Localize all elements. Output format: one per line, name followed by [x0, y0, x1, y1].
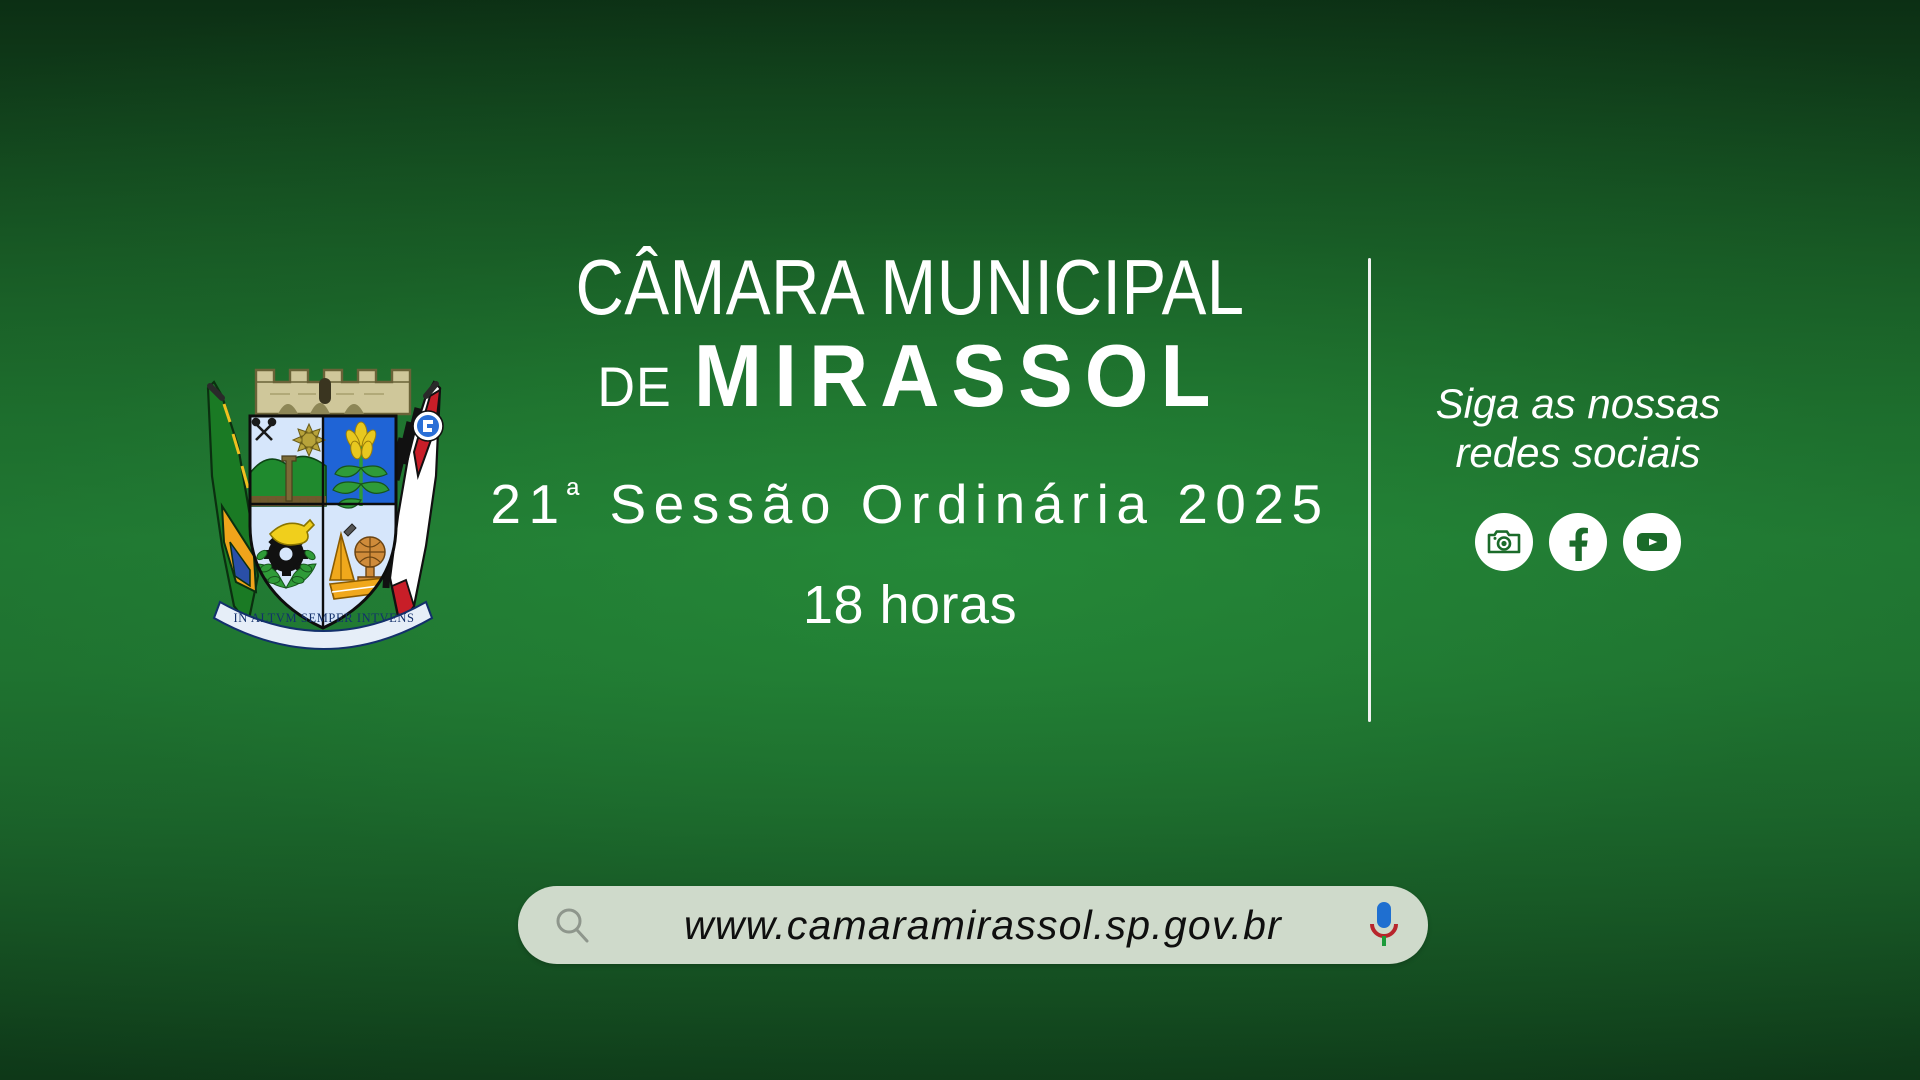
- motto-text: IN ALTVM SEMPER INTVENS: [233, 611, 414, 625]
- session-label: 21ª Sessão Ordinária 2025: [470, 472, 1350, 536]
- search-bar[interactable]: www.camaramirassol.sp.gov.br: [518, 886, 1428, 964]
- coat-of-arms-mirassol: IN ALTVM SEMPER INTVENS: [178, 356, 468, 676]
- sun-icon: [293, 424, 325, 456]
- session-text: Sessão Ordinária 2025: [587, 473, 1330, 535]
- page-title: CÂMARA MUNICIPAL: [532, 250, 1289, 324]
- session-ordinal: ª: [567, 476, 587, 514]
- session-number: 21: [490, 473, 566, 535]
- social-heading: Siga as nossas redes sociais: [1418, 380, 1738, 477]
- instagram-icon[interactable]: [1475, 513, 1533, 571]
- session-time: 18 horas: [470, 574, 1350, 636]
- center-text-block: CÂMARA MUNICIPAL DEMIRASSOL 21ª Sessão O…: [470, 250, 1350, 636]
- title-prefix: DE: [597, 355, 671, 418]
- microphone-icon[interactable]: [1366, 899, 1402, 951]
- youtube-icon[interactable]: [1623, 513, 1681, 571]
- social-heading-line2: redes sociais: [1418, 429, 1738, 478]
- shield: [248, 414, 399, 634]
- page-subtitle: DEMIRASSOL: [501, 332, 1319, 420]
- url-input[interactable]: www.camaramirassol.sp.gov.br: [594, 902, 1366, 949]
- facebook-icon[interactable]: [1549, 513, 1607, 571]
- mural-crown-icon: [256, 370, 410, 414]
- magnifier-icon: [550, 903, 594, 947]
- social-icon-row: [1418, 513, 1738, 571]
- vertical-divider: [1368, 258, 1371, 722]
- broadcast-slide: IN ALTVM SEMPER INTVENS CÂMARA MUNICIPAL…: [0, 0, 1920, 1080]
- social-column: Siga as nossas redes sociais: [1418, 380, 1738, 571]
- city-name: MIRASSOL: [694, 326, 1223, 425]
- social-heading-line1: Siga as nossas: [1436, 380, 1721, 427]
